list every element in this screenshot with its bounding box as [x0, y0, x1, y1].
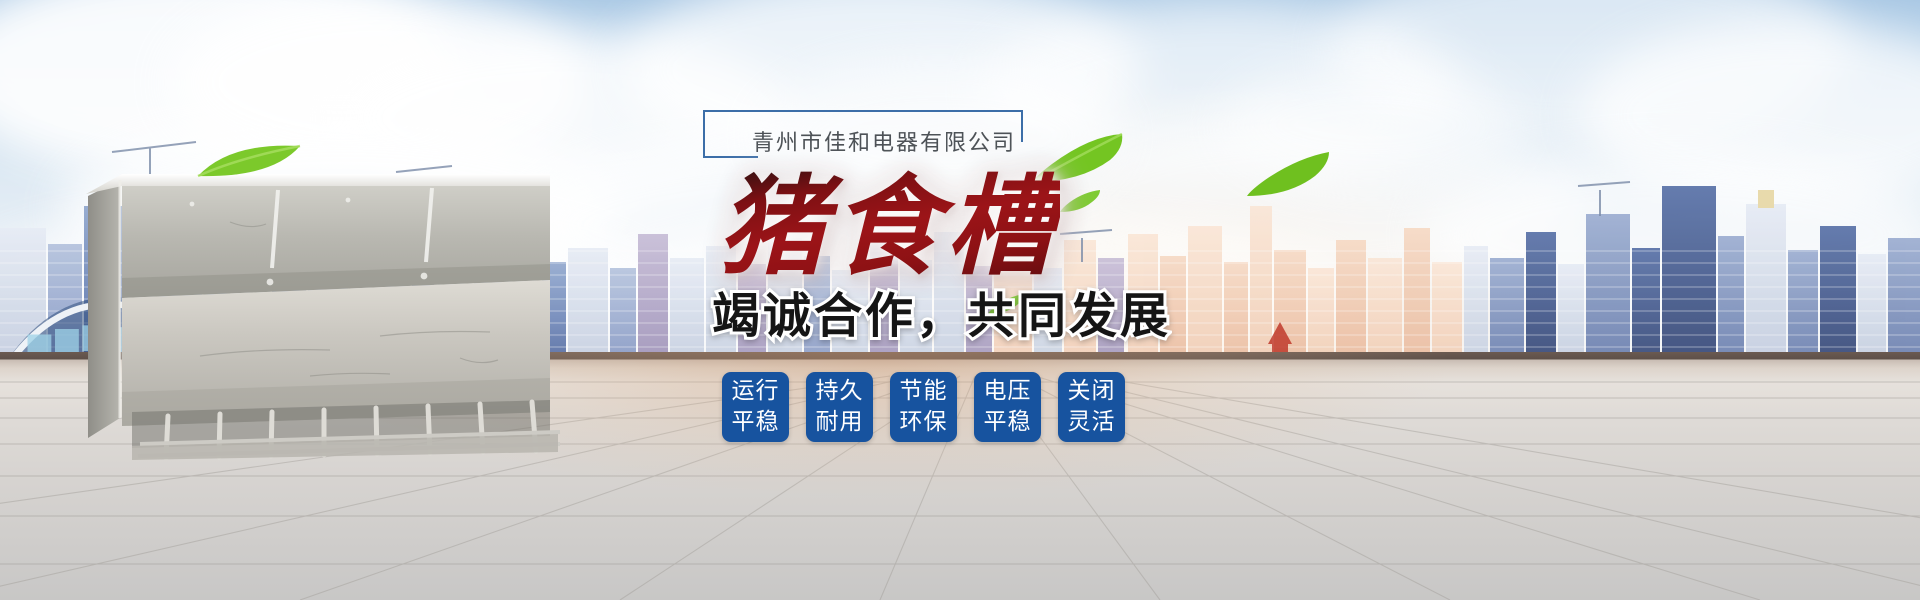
frame-line-left: [703, 110, 705, 158]
company-name: 青州市佳和电器有限公司: [752, 125, 1016, 157]
badge-line-1: 持久: [816, 376, 864, 407]
feature-badge-2[interactable]: 持久耐用: [806, 372, 873, 442]
badge-line-1: 关闭: [1068, 376, 1116, 407]
feature-badge-5[interactable]: 关闭灵活: [1058, 372, 1125, 442]
subtitle-slogan: 竭诚合作，共同发展: [712, 288, 1171, 344]
badge-line-2: 平稳: [984, 407, 1032, 438]
badge-line-2: 平稳: [732, 407, 780, 438]
badge-line-2: 灵活: [1068, 407, 1116, 438]
feature-badge-3[interactable]: 节能环保: [890, 372, 957, 442]
frame-line-top: [703, 110, 1023, 112]
badge-line-2: 环保: [900, 407, 948, 438]
badge-line-1: 电压: [984, 376, 1032, 407]
page-title: 猪食槽: [718, 168, 1060, 286]
promo-banner: 青州市佳和电器有限公司 猪食槽 竭诚合作，共同发展 运行平稳持久耐用节能环保电压…: [0, 0, 1920, 600]
frame-line-bottom: [703, 156, 758, 158]
feature-badge-4[interactable]: 电压平稳: [974, 372, 1041, 442]
badge-line-2: 耐用: [816, 407, 864, 438]
frame-line-right: [1021, 110, 1023, 142]
feature-badge-list: 运行平稳持久耐用节能环保电压平稳关闭灵活: [722, 372, 1125, 442]
text-content-block: 青州市佳和电器有限公司 猪食槽 竭诚合作，共同发展 运行平稳持久耐用节能环保电压…: [0, 0, 1920, 600]
feature-badge-1[interactable]: 运行平稳: [722, 372, 789, 442]
badge-line-1: 节能: [900, 376, 948, 407]
badge-line-1: 运行: [732, 376, 780, 407]
